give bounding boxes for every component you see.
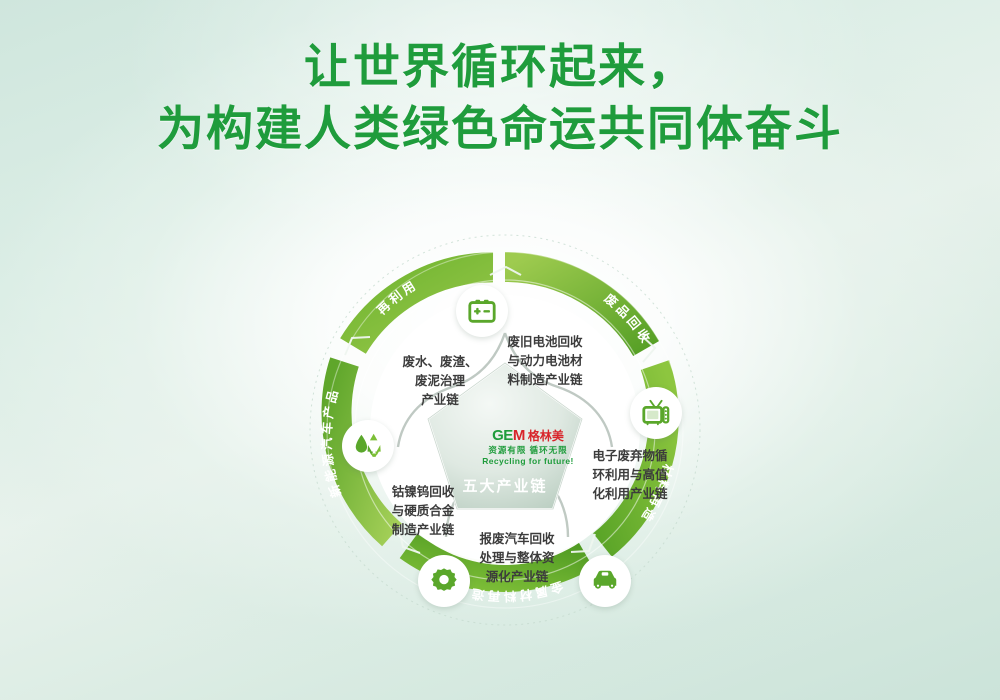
icon-badge-battery[interactable] bbox=[456, 285, 508, 337]
industry-chain-diagram: 废品回收 材料再造 金属材料再造 新能源汽车产品 再利用 bbox=[290, 215, 720, 675]
icon-badge-car[interactable] bbox=[579, 555, 631, 607]
page-title-line-2: 为构建人类绿色命运共同体奋斗 bbox=[0, 98, 1000, 160]
icon-badge-recycle-drop[interactable] bbox=[342, 420, 394, 472]
segment-text-alloy: 钴镍钨回收 与硬质合金 制造产业链 bbox=[368, 483, 478, 539]
gem-latin-mark: GEM bbox=[492, 428, 525, 443]
gear-icon bbox=[429, 566, 459, 596]
battery-icon bbox=[467, 296, 497, 326]
page-title-line-1: 让世界循环起来， bbox=[0, 36, 1000, 98]
segment-text-wastewater: 废水、废渣、 废泥治理 产业链 bbox=[382, 353, 498, 409]
icon-badge-gear[interactable] bbox=[418, 555, 470, 607]
segment-text-vehicle: 报废汽车回收 处理与整体资 源化产业链 bbox=[462, 530, 572, 586]
gem-slogan-cn: 资源有限 循环无限 bbox=[468, 446, 588, 455]
recycle-drop-icon bbox=[352, 430, 384, 462]
segment-text-ewaste: 电子废弃物循 环利用与高值 化利用产业链 bbox=[578, 447, 682, 503]
car-icon bbox=[590, 566, 620, 596]
gem-slogan-en: Recycling for future! bbox=[468, 457, 588, 466]
television-icon bbox=[641, 398, 671, 428]
gem-logo-wordmark: GEM 格林美 bbox=[468, 427, 588, 444]
icon-badge-television[interactable] bbox=[630, 387, 682, 439]
gem-logo: GEM 格林美 资源有限 循环无限 Recycling for future! bbox=[468, 427, 588, 473]
page-title: 让世界循环起来， 为构建人类绿色命运共同体奋斗 bbox=[0, 36, 1000, 160]
gem-chinese-mark: 格林美 bbox=[528, 430, 564, 442]
segment-text-battery: 废旧电池回收 与动力电池材 料制造产业链 bbox=[485, 333, 605, 389]
